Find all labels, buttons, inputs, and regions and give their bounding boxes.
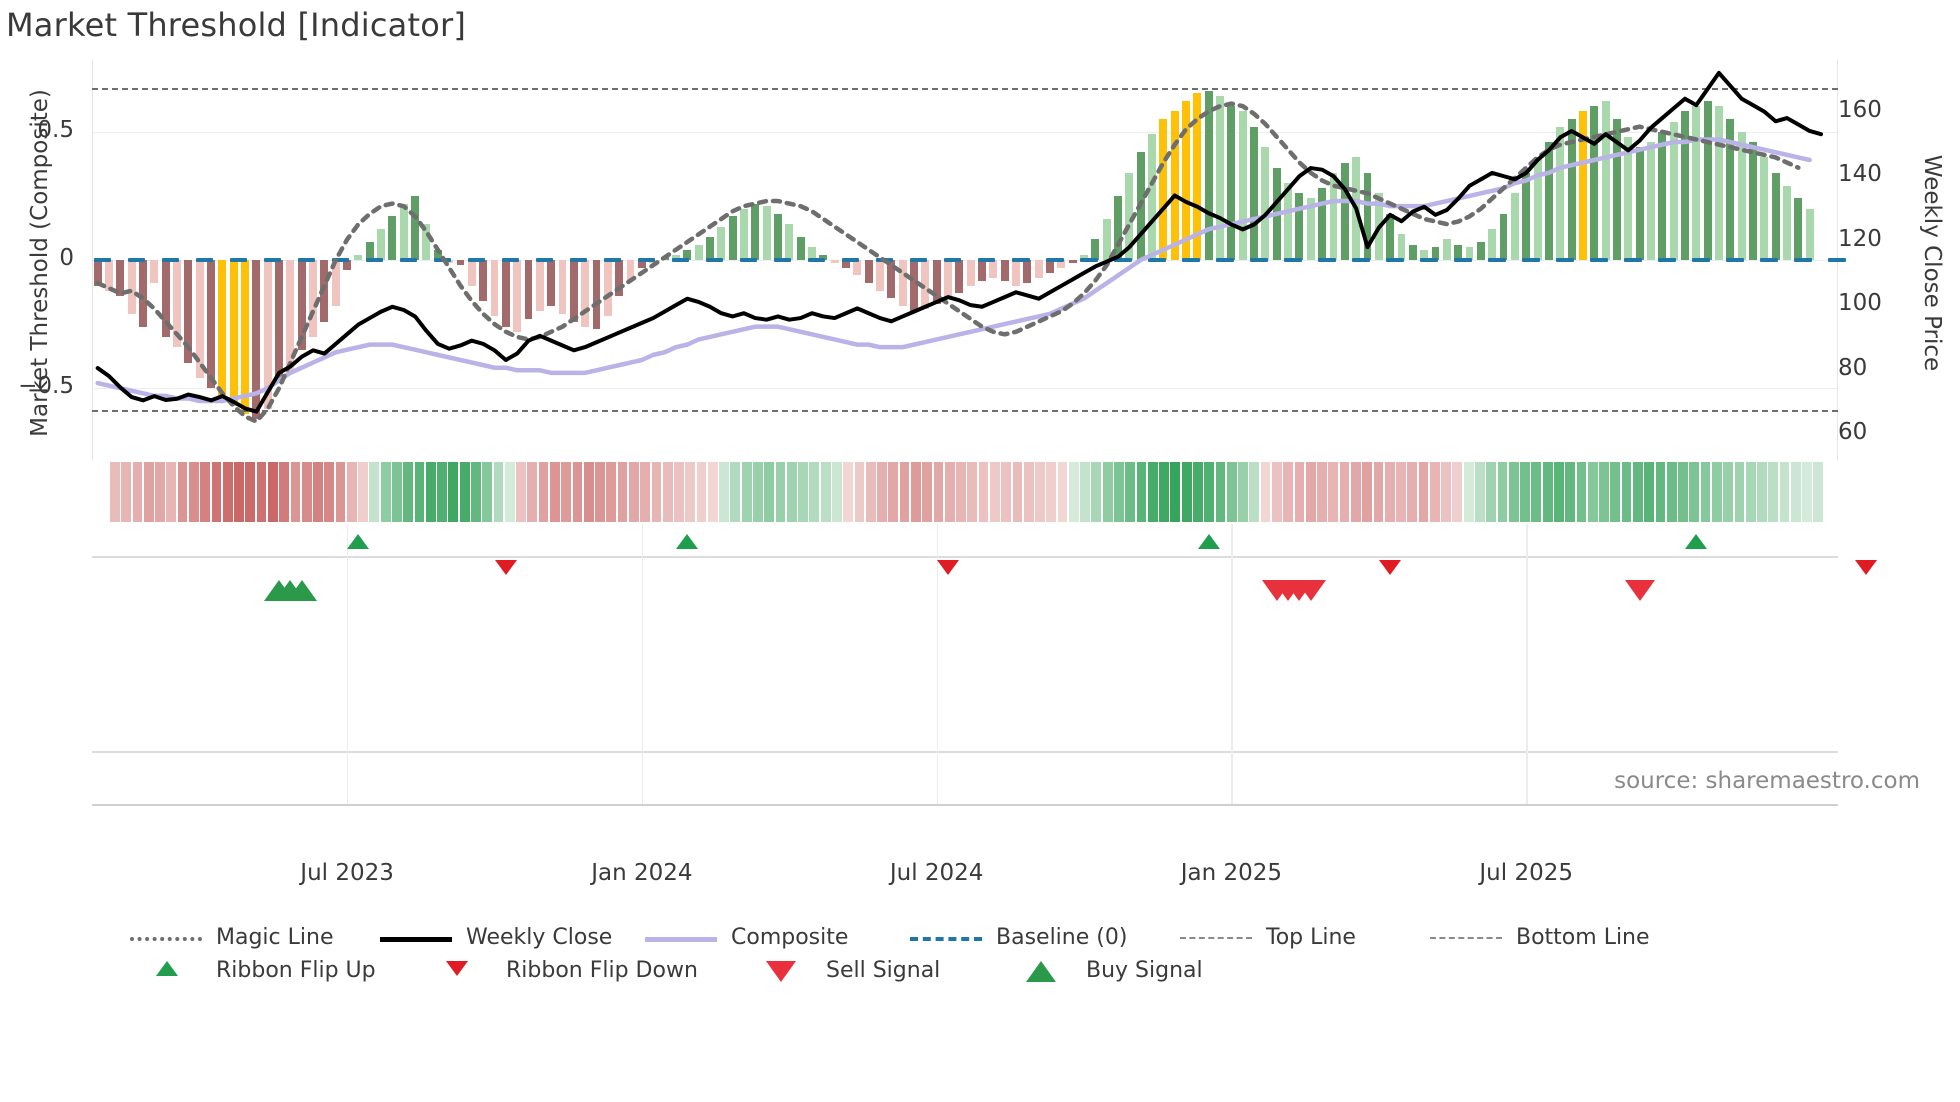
ribbon-cell bbox=[200, 462, 210, 522]
ribbon-cell bbox=[1757, 462, 1767, 522]
legend-item[interactable]: Ribbon Flip Down bbox=[420, 958, 740, 983]
ribbon-cell bbox=[1565, 462, 1575, 522]
legend-item[interactable]: Composite bbox=[645, 925, 910, 950]
ribbon-cell bbox=[155, 462, 165, 522]
ribbon-cell bbox=[324, 462, 334, 522]
ribbon-cell bbox=[1317, 462, 1327, 522]
ribbon-cell bbox=[1813, 462, 1823, 522]
ribbon-cell bbox=[584, 462, 594, 522]
ribbon-flip-down-marker bbox=[495, 560, 517, 575]
ribbon-cell bbox=[460, 462, 470, 522]
ribbon-cell bbox=[618, 462, 628, 522]
ribbon-flip-down-marker bbox=[937, 560, 959, 575]
ribbon-cell bbox=[1599, 462, 1609, 522]
triangle-down-icon bbox=[420, 960, 492, 982]
ribbon-cell bbox=[1701, 462, 1711, 522]
ribbon-cell bbox=[1588, 462, 1598, 522]
legend-item-label: Weekly Close bbox=[466, 925, 612, 950]
bottom-baseline-axis bbox=[92, 804, 1838, 806]
composite-line bbox=[98, 139, 1810, 401]
ribbon-cell bbox=[809, 462, 819, 522]
ribbon-cell bbox=[1791, 462, 1801, 522]
ribbon-cell bbox=[1396, 462, 1406, 522]
ribbon-cell bbox=[855, 462, 865, 522]
y-tick-right: 160 bbox=[1838, 97, 1882, 123]
ribbon-cell bbox=[573, 462, 583, 522]
ribbon-cell bbox=[1351, 462, 1361, 522]
ribbon-cell bbox=[1385, 462, 1395, 522]
legend-item-label: Baseline (0) bbox=[996, 925, 1127, 950]
ribbon-cell bbox=[685, 462, 695, 522]
ribbon-heatmap-strip bbox=[110, 462, 1826, 522]
x-gridline bbox=[1231, 524, 1232, 576]
ribbon-cell bbox=[956, 462, 966, 522]
triangle-down-icon bbox=[740, 960, 812, 982]
legend-item-label: Ribbon Flip Up bbox=[216, 958, 376, 983]
ribbon-cell bbox=[539, 462, 549, 522]
ribbon-cell bbox=[426, 462, 436, 522]
ribbon-cell bbox=[1340, 462, 1350, 522]
ribbon-cell bbox=[144, 462, 154, 522]
x-gridline bbox=[1526, 576, 1527, 656]
x-gridline bbox=[937, 576, 938, 656]
ribbon-cell bbox=[1768, 462, 1778, 522]
ribbon-cell bbox=[708, 462, 718, 522]
ribbon-cell bbox=[1689, 462, 1699, 522]
ribbon-cell bbox=[392, 462, 402, 522]
ribbon-cell bbox=[1554, 462, 1564, 522]
ribbon-cell bbox=[1610, 462, 1620, 522]
ribbon-cell bbox=[1430, 462, 1440, 522]
x-gridline bbox=[1231, 656, 1232, 804]
line-swatch-icon bbox=[645, 927, 717, 949]
ribbon-cell bbox=[189, 462, 199, 522]
triangle-up-icon bbox=[1000, 960, 1072, 982]
ribbon-cell bbox=[1802, 462, 1812, 522]
ribbon-cell bbox=[516, 462, 526, 522]
ribbon-cell bbox=[1543, 462, 1553, 522]
ribbon-cell bbox=[245, 462, 255, 522]
ribbon-cell bbox=[1125, 462, 1135, 522]
ribbon-cell bbox=[967, 462, 977, 522]
bottom-axis-area bbox=[92, 656, 1838, 806]
ribbon-flip-marker-row bbox=[92, 524, 1838, 576]
ribbon-cell bbox=[640, 462, 650, 522]
ribbon-cell bbox=[415, 462, 425, 522]
y-tick-left: 0 bbox=[59, 245, 74, 271]
ribbon-cell bbox=[1091, 462, 1101, 522]
ribbon-cell bbox=[764, 462, 774, 522]
ribbon-cell bbox=[1261, 462, 1271, 522]
ribbon-cell bbox=[1170, 462, 1180, 522]
ribbon-cell bbox=[1441, 462, 1451, 522]
ribbon-cell bbox=[1746, 462, 1756, 522]
ribbon-cell bbox=[550, 462, 560, 522]
ribbon-cell bbox=[1193, 462, 1203, 522]
ribbon-cell bbox=[787, 462, 797, 522]
ribbon-cell bbox=[212, 462, 222, 522]
legend-item[interactable]: Bottom Line bbox=[1430, 925, 1690, 950]
chart-line-overlay bbox=[92, 60, 1838, 460]
x-gridline bbox=[347, 576, 348, 656]
ribbon-cell bbox=[1328, 462, 1338, 522]
ribbon-cell bbox=[437, 462, 447, 522]
ribbon-cell bbox=[1216, 462, 1226, 522]
ribbon-cell bbox=[1035, 462, 1045, 522]
ribbon-cell bbox=[1723, 462, 1733, 522]
ribbon-cell bbox=[403, 462, 413, 522]
ribbon-cell bbox=[1013, 462, 1023, 522]
ribbon-cell bbox=[1080, 462, 1090, 522]
ribbon-cell bbox=[1735, 462, 1745, 522]
ribbon-cell bbox=[279, 462, 289, 522]
x-gridline bbox=[1231, 576, 1232, 656]
ribbon-cell bbox=[527, 462, 537, 522]
ribbon-cell bbox=[223, 462, 233, 522]
ribbon-cell bbox=[719, 462, 729, 522]
ribbon-cell bbox=[1227, 462, 1237, 522]
ribbon-cell bbox=[482, 462, 492, 522]
legend-item[interactable]: Magic Line bbox=[130, 925, 380, 950]
y-tick-right: 140 bbox=[1838, 161, 1882, 187]
ribbon-cell bbox=[742, 462, 752, 522]
ribbon-cell bbox=[1622, 462, 1632, 522]
x-tick-label: Jul 2025 bbox=[1436, 860, 1616, 886]
legend-row-lines: Magic LineWeekly CloseCompositeBaseline … bbox=[130, 925, 1830, 950]
ribbon-cell bbox=[877, 462, 887, 522]
ribbon-cell bbox=[979, 462, 989, 522]
ribbon-cell bbox=[336, 462, 346, 522]
ribbon-cell bbox=[730, 462, 740, 522]
ribbon-cell bbox=[1656, 462, 1666, 522]
ribbon-cell bbox=[1475, 462, 1485, 522]
legend-item-label: Top Line bbox=[1266, 925, 1356, 950]
legend-item[interactable]: Baseline (0) bbox=[910, 925, 1180, 950]
magic-line bbox=[98, 104, 1799, 422]
ribbon-cell bbox=[1306, 462, 1316, 522]
legend-item-label: Sell Signal bbox=[826, 958, 940, 983]
y-tick-right: 80 bbox=[1838, 355, 1867, 381]
x-gridline bbox=[347, 524, 348, 576]
ribbon-cell bbox=[1531, 462, 1541, 522]
x-tick-label: Jan 2025 bbox=[1141, 860, 1321, 886]
x-gridline bbox=[347, 656, 348, 804]
ribbon-cell bbox=[358, 462, 368, 522]
ribbon-cell bbox=[313, 462, 323, 522]
legend-item[interactable]: Buy Signal bbox=[1000, 958, 1280, 983]
y-axis-right-label: Weekly Close Price bbox=[1919, 73, 1945, 453]
ribbon-cell bbox=[1272, 462, 1282, 522]
triangle-up-icon bbox=[130, 960, 202, 982]
ribbon-cell bbox=[110, 462, 120, 522]
ribbon-cell bbox=[595, 462, 605, 522]
ribbon-cell bbox=[1520, 462, 1530, 522]
ribbon-cell bbox=[1204, 462, 1214, 522]
ribbon-flip-up-marker bbox=[1685, 534, 1707, 549]
ribbon-flip-up-marker bbox=[1198, 534, 1220, 549]
ribbon-cell bbox=[121, 462, 131, 522]
ribbon-cell bbox=[1283, 462, 1293, 522]
y-tick-right: 100 bbox=[1838, 290, 1882, 316]
x-gridline bbox=[642, 656, 643, 804]
ribbon-cell bbox=[166, 462, 176, 522]
ribbon-cell bbox=[505, 462, 515, 522]
x-gridline bbox=[937, 656, 938, 804]
ribbon-flip-down-marker bbox=[1855, 560, 1877, 575]
ribbon-cell bbox=[1001, 462, 1011, 522]
main-chart-plot bbox=[92, 60, 1838, 460]
ribbon-cell bbox=[1069, 462, 1079, 522]
ribbon-cell bbox=[832, 462, 842, 522]
x-tick-label: Jan 2024 bbox=[552, 860, 732, 886]
ribbon-cell bbox=[1633, 462, 1643, 522]
ribbon-cell bbox=[1452, 462, 1462, 522]
y-tick-left: 0.5 bbox=[37, 117, 74, 143]
ribbon-cell bbox=[606, 462, 616, 522]
legend-item-label: Magic Line bbox=[216, 925, 333, 950]
ribbon-cell bbox=[934, 462, 944, 522]
ribbon-cell bbox=[1509, 462, 1519, 522]
ribbon-cell bbox=[1137, 462, 1147, 522]
ribbon-cell bbox=[369, 462, 379, 522]
ribbon-cell bbox=[990, 462, 1000, 522]
ribbon-cell bbox=[1577, 462, 1587, 522]
ribbon-cell bbox=[291, 462, 301, 522]
ribbon-cell bbox=[1667, 462, 1677, 522]
ribbon-cell bbox=[753, 462, 763, 522]
legend-item[interactable]: Top Line bbox=[1180, 925, 1430, 950]
source-attribution: source: sharemaestro.com bbox=[1614, 768, 1920, 794]
ribbon-cell bbox=[1114, 462, 1124, 522]
x-gridline bbox=[642, 576, 643, 656]
ribbon-cell bbox=[888, 462, 898, 522]
ribbon-cell bbox=[1486, 462, 1496, 522]
line-swatch-icon bbox=[1180, 927, 1252, 949]
line-swatch-icon bbox=[130, 927, 202, 949]
ribbon-cell bbox=[1249, 462, 1259, 522]
ribbon-cell bbox=[448, 462, 458, 522]
ribbon-cell bbox=[1159, 462, 1169, 522]
ribbon-cell bbox=[1103, 462, 1113, 522]
ribbon-cell bbox=[257, 462, 267, 522]
ribbon-cell bbox=[1238, 462, 1248, 522]
ribbon-cell bbox=[1780, 462, 1790, 522]
ribbon-cell bbox=[268, 462, 278, 522]
line-swatch-icon bbox=[910, 927, 982, 949]
ribbon-cell bbox=[1295, 462, 1305, 522]
ribbon-cell bbox=[922, 462, 932, 522]
ribbon-cell bbox=[494, 462, 504, 522]
y-tick-right: 120 bbox=[1838, 226, 1882, 252]
legend-item-label: Bottom Line bbox=[1516, 925, 1650, 950]
ribbon-cell bbox=[381, 462, 391, 522]
legend-item[interactable]: Weekly Close bbox=[380, 925, 645, 950]
ribbon-cell bbox=[1644, 462, 1654, 522]
buy-sell-signal-row bbox=[92, 576, 1838, 656]
ribbon-cell bbox=[776, 462, 786, 522]
sell-signal-marker bbox=[1296, 580, 1326, 601]
chart-legend: Magic LineWeekly CloseCompositeBaseline … bbox=[130, 925, 1830, 983]
ribbon-cell bbox=[866, 462, 876, 522]
ribbon-flip-up-marker bbox=[676, 534, 698, 549]
ribbon-cell bbox=[302, 462, 312, 522]
ribbon-cell bbox=[629, 462, 639, 522]
ribbon-cell bbox=[471, 462, 481, 522]
ribbon-cell bbox=[911, 462, 921, 522]
legend-item-label: Ribbon Flip Down bbox=[506, 958, 698, 983]
sell-signal-marker bbox=[1625, 580, 1655, 601]
x-tick-label: Jul 2024 bbox=[847, 860, 1027, 886]
ribbon-cell bbox=[652, 462, 662, 522]
ribbon-cell bbox=[674, 462, 684, 522]
legend-item-label: Buy Signal bbox=[1086, 958, 1203, 983]
ribbon-cell bbox=[178, 462, 188, 522]
legend-item[interactable]: Ribbon Flip Up bbox=[130, 958, 420, 983]
ribbon-cell bbox=[1362, 462, 1372, 522]
ribbon-cell bbox=[945, 462, 955, 522]
ribbon-cell bbox=[234, 462, 244, 522]
x-gridline bbox=[642, 524, 643, 576]
ribbon-cell bbox=[821, 462, 831, 522]
ribbon-cell bbox=[133, 462, 143, 522]
ribbon-cell bbox=[561, 462, 571, 522]
ribbon-cell bbox=[1712, 462, 1722, 522]
buy-signal-marker bbox=[287, 580, 317, 601]
ribbon-cell bbox=[1498, 462, 1508, 522]
ribbon-cell bbox=[1374, 462, 1384, 522]
ribbon-flip-down-marker bbox=[1379, 560, 1401, 575]
x-tick-label: Jul 2023 bbox=[257, 860, 437, 886]
ribbon-cell bbox=[843, 462, 853, 522]
ribbon-cell bbox=[1407, 462, 1417, 522]
ribbon-cell bbox=[1058, 462, 1068, 522]
legend-item[interactable]: Sell Signal bbox=[740, 958, 1000, 983]
line-swatch-icon bbox=[380, 927, 452, 949]
ribbon-cell bbox=[1678, 462, 1688, 522]
ribbon-cell bbox=[1046, 462, 1056, 522]
x-gridline bbox=[1526, 656, 1527, 804]
bottom-panel-axis bbox=[92, 751, 1838, 753]
ribbon-flip-up-marker bbox=[347, 534, 369, 549]
y-tick-right: 60 bbox=[1838, 419, 1867, 445]
weekly-close-line bbox=[98, 73, 1821, 412]
ribbon-cell bbox=[1024, 462, 1034, 522]
flip-row-axis bbox=[92, 556, 1838, 558]
ribbon-cell bbox=[347, 462, 357, 522]
ribbon-cell bbox=[1419, 462, 1429, 522]
ribbon-cell bbox=[900, 462, 910, 522]
ribbon-cell bbox=[1148, 462, 1158, 522]
page-title: Market Threshold [Indicator] bbox=[6, 6, 466, 44]
legend-row-markers: Ribbon Flip UpRibbon Flip DownSell Signa… bbox=[130, 958, 1830, 983]
ribbon-cell bbox=[1464, 462, 1474, 522]
x-gridline bbox=[1526, 524, 1527, 576]
ribbon-cell bbox=[663, 462, 673, 522]
line-swatch-icon bbox=[1430, 927, 1502, 949]
y-tick-left: −0.5 bbox=[18, 373, 74, 399]
ribbon-cell bbox=[798, 462, 808, 522]
legend-item-label: Composite bbox=[731, 925, 848, 950]
ribbon-cell bbox=[1182, 462, 1192, 522]
ribbon-cell bbox=[697, 462, 707, 522]
